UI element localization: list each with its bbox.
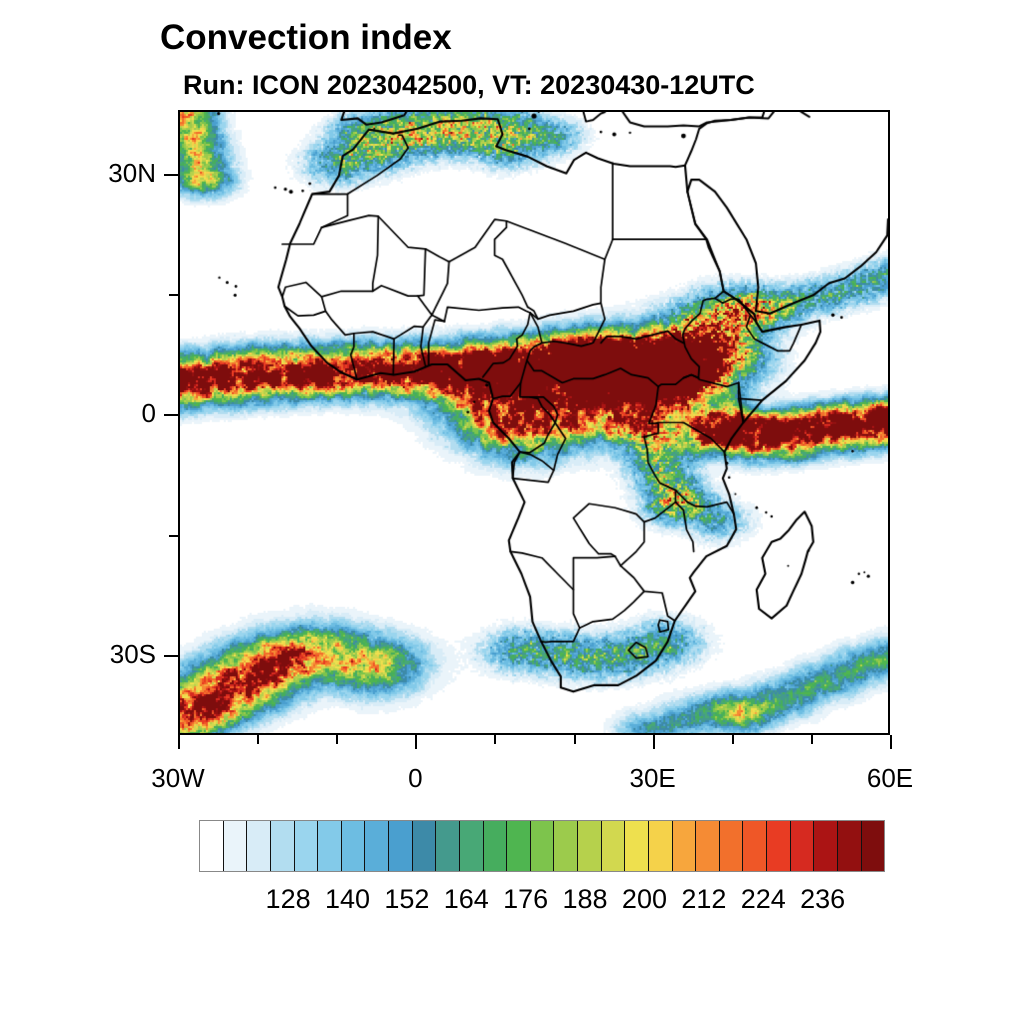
colorbar-cell bbox=[531, 821, 555, 871]
x-tick-label: 30E bbox=[583, 763, 723, 794]
colorbar-cell bbox=[554, 821, 578, 871]
y-tick-mark bbox=[169, 294, 178, 296]
colorbar-cell bbox=[436, 821, 460, 871]
colorbar-cell bbox=[507, 821, 531, 871]
colorbar-cell bbox=[295, 821, 319, 871]
colorbar-cell bbox=[342, 821, 366, 871]
x-tick-mark bbox=[811, 735, 813, 744]
colorbar-cell bbox=[696, 821, 720, 871]
x-tick-label: 0 bbox=[345, 763, 485, 794]
map-plot-area bbox=[178, 110, 890, 735]
colorbar bbox=[199, 820, 885, 872]
colorbar-cell bbox=[743, 821, 767, 871]
colorbar-cell bbox=[318, 821, 342, 871]
colorbar-cell bbox=[200, 821, 224, 871]
colorbar-cell bbox=[673, 821, 697, 871]
colorbar-cell bbox=[649, 821, 673, 871]
colorbar-cell bbox=[625, 821, 649, 871]
colorbar-cell bbox=[767, 821, 791, 871]
y-tick-mark bbox=[164, 655, 178, 657]
colorbar-cell bbox=[247, 821, 271, 871]
colorbar-tick-label: 236 bbox=[778, 884, 868, 915]
x-tick-label: 30W bbox=[108, 763, 248, 794]
colorbar-cell bbox=[224, 821, 248, 871]
y-tick-mark bbox=[164, 414, 178, 416]
y-tick-label: 0 bbox=[46, 398, 156, 429]
x-tick-mark bbox=[494, 735, 496, 744]
x-tick-mark bbox=[653, 735, 655, 749]
x-tick-mark bbox=[732, 735, 734, 744]
page-title: Convection index bbox=[160, 18, 452, 58]
colorbar-cell bbox=[460, 821, 484, 871]
x-tick-mark bbox=[336, 735, 338, 744]
colorbar-cell bbox=[389, 821, 413, 871]
x-tick-label: 60E bbox=[820, 763, 960, 794]
x-tick-mark bbox=[178, 735, 180, 749]
colorbar-cell bbox=[271, 821, 295, 871]
page-subtitle: Run: ICON 2023042500, VT: 20230430-12UTC bbox=[183, 70, 755, 101]
colorbar-cell bbox=[365, 821, 389, 871]
y-tick-label: 30N bbox=[46, 158, 156, 189]
colorbar-cell bbox=[791, 821, 815, 871]
colorbar-cell bbox=[602, 821, 626, 871]
x-tick-mark bbox=[415, 735, 417, 749]
colorbar-cell bbox=[413, 821, 437, 871]
y-tick-mark bbox=[164, 174, 178, 176]
x-tick-mark bbox=[257, 735, 259, 744]
colorbar-cell bbox=[838, 821, 862, 871]
y-tick-label: 30S bbox=[46, 639, 156, 670]
colorbar-cell bbox=[814, 821, 838, 871]
colorbar-cell bbox=[720, 821, 744, 871]
x-tick-mark bbox=[574, 735, 576, 744]
convection-index-heatmap bbox=[180, 112, 888, 733]
colorbar-cell bbox=[578, 821, 602, 871]
x-tick-mark bbox=[890, 735, 892, 749]
y-tick-mark bbox=[169, 535, 178, 537]
colorbar-cell bbox=[862, 821, 885, 871]
colorbar-cell bbox=[484, 821, 508, 871]
